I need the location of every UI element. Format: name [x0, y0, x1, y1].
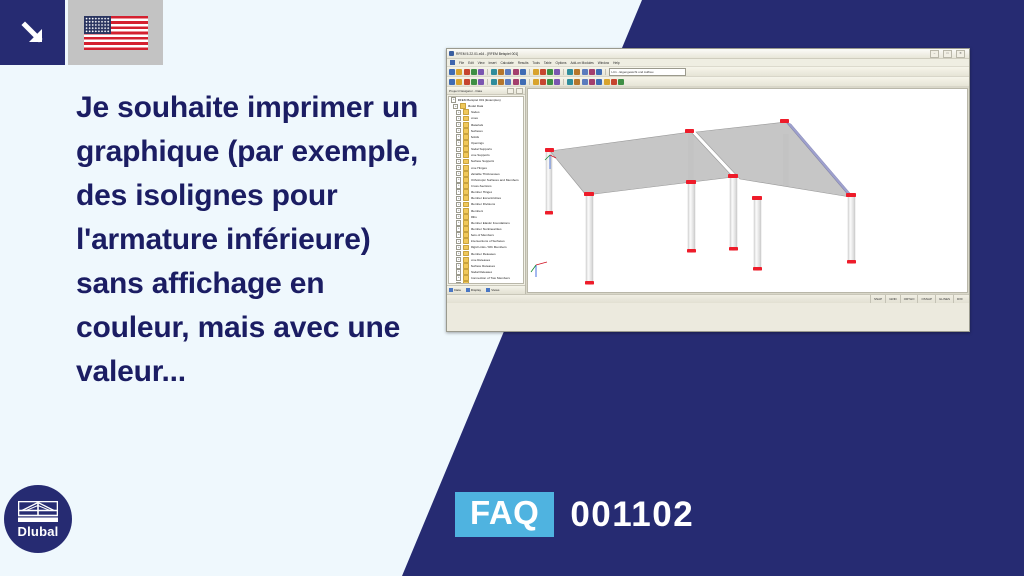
measure-icon[interactable] — [611, 79, 617, 85]
tree-node-label: Member Hinges — [471, 190, 493, 194]
expand-toggle-icon[interactable]: + — [456, 239, 461, 244]
views-tab-icon — [486, 288, 490, 292]
menu-item-options[interactable]: Options — [556, 61, 567, 65]
comment-icon[interactable] — [520, 79, 526, 85]
arrow-down-right-icon — [17, 17, 49, 49]
toolbar-separator — [529, 79, 530, 85]
expand-toggle-icon[interactable]: + — [456, 226, 461, 231]
load-icon[interactable] — [505, 79, 511, 85]
tree-node-label: Nodal Releases — [471, 270, 493, 274]
support-icon[interactable] — [498, 79, 504, 85]
expand-toggle-icon[interactable]: + — [456, 159, 461, 164]
render-quality-icon[interactable] — [589, 79, 595, 85]
folder-icon — [463, 220, 470, 226]
visibility-icon[interactable] — [574, 79, 580, 85]
tree-node-label: Member Nonlinearities — [471, 227, 502, 231]
toolbar-separator — [487, 79, 488, 85]
folder-icon — [463, 214, 470, 220]
slab-panel-right — [696, 122, 850, 197]
paste-icon[interactable] — [505, 69, 511, 75]
faq-number: 001102 — [570, 497, 694, 533]
tree-node-label: Rigid Links / Rib Members — [471, 245, 507, 249]
tree-node-label: Surfaces — [471, 129, 483, 133]
menu-item-help[interactable]: Help — [613, 61, 620, 65]
tree-node-label: Intersections of Surfaces — [471, 239, 505, 243]
navigator-tree[interactable]: +RFEM Beispiel 001 (Examples)+Model Data… — [448, 96, 524, 284]
model-view-icon[interactable] — [596, 79, 602, 85]
tree-node-label: Model Data — [468, 104, 484, 108]
toolbar-separator — [529, 69, 530, 75]
menu-item-file[interactable]: File — [459, 61, 464, 65]
status-osnap[interactable]: OSNAP — [917, 295, 935, 303]
snap-icon[interactable] — [533, 79, 539, 85]
expand-toggle-icon[interactable]: + — [451, 97, 456, 102]
status-bar: SNAP GRID ORTHO OSNAP GLINES DXF — [447, 294, 969, 303]
expand-toggle-icon[interactable]: + — [456, 214, 461, 219]
undo-icon[interactable] — [513, 69, 519, 75]
folder-icon — [463, 189, 470, 195]
folder-icon — [463, 263, 470, 269]
cut-icon[interactable] — [491, 69, 497, 75]
menu-bar[interactable]: File Edit View Insert Calculate Results … — [447, 59, 969, 67]
zoom-in-icon[interactable] — [547, 69, 553, 75]
expand-toggle-icon[interactable]: + — [456, 110, 461, 115]
us-flag-icon — [84, 16, 148, 50]
calculate-icon[interactable] — [589, 69, 595, 75]
coordinate-axes-icon — [531, 262, 547, 277]
expand-toggle-icon[interactable]: + — [456, 208, 461, 213]
member-icon[interactable] — [471, 79, 477, 85]
folder-icon — [463, 116, 470, 122]
folder-icon — [463, 281, 470, 284]
redo-icon[interactable] — [520, 69, 526, 75]
zoom-out-icon[interactable] — [554, 69, 560, 75]
model-viewport[interactable] — [527, 88, 968, 293]
clip-icon[interactable] — [618, 79, 624, 85]
tree-node-label: Member Eccentricities — [471, 196, 501, 200]
toolbar-separator — [487, 69, 488, 75]
status-dxf[interactable]: DXF — [953, 295, 966, 303]
new-file-icon[interactable] — [449, 69, 455, 75]
menu-item-window[interactable]: Window — [598, 61, 609, 65]
folder-icon — [463, 251, 470, 257]
tree-node-label: Line Releases — [471, 258, 491, 262]
folder-icon — [463, 159, 470, 165]
tree-node-label: Materials — [471, 123, 484, 127]
menu-item-edit[interactable]: Edit — [468, 61, 474, 65]
status-grid[interactable]: GRID — [885, 295, 900, 303]
expand-toggle-icon[interactable]: + — [456, 128, 461, 133]
pin-button[interactable] — [507, 88, 514, 94]
flag-badge — [68, 0, 163, 65]
tree-node-label: Surface Supports — [471, 159, 495, 163]
layer-icon[interactable] — [567, 79, 573, 85]
navigator-tabs[interactable]: Data Display Views — [447, 285, 525, 294]
tab-display-label: Display — [471, 288, 481, 292]
expand-toggle-icon[interactable]: + — [456, 147, 461, 152]
tree-node-label: Variable Thicknesses — [471, 172, 500, 176]
workspace: Project Navigator - Data +RFEM Beispiel … — [447, 87, 969, 294]
expand-toggle-icon[interactable]: + — [453, 104, 458, 109]
folder-icon — [463, 238, 470, 244]
dimension-icon[interactable] — [513, 79, 519, 85]
tree-node-label: RFEM Beispiel 001 (Examples) — [458, 98, 501, 102]
faq-chip: FAQ — [455, 492, 554, 537]
folder-icon — [463, 109, 470, 115]
tree-node[interactable]: +Nodal Constraints — [449, 281, 523, 284]
arrow-badge — [0, 0, 65, 65]
folder-icon — [463, 257, 470, 263]
save-icon[interactable] — [464, 69, 470, 75]
ortho-icon[interactable] — [547, 79, 553, 85]
minimize-button[interactable]: – — [930, 50, 939, 58]
tree-node-label: Cross-Sections — [471, 184, 492, 188]
tree-node-label: Openings — [471, 141, 484, 145]
navigator-title: Project Navigator - Data — [449, 89, 482, 93]
rfem-application-window: RFEM 5.22.01.x64 - [RFEM Beispiel 001] –… — [446, 48, 970, 332]
toolbar-separator — [563, 69, 564, 75]
menu-item-addon-modules[interactable]: Add-on Modules — [571, 61, 594, 65]
solid-icon[interactable] — [582, 69, 588, 75]
node-icon[interactable] — [456, 79, 462, 85]
slide-canvas: Je souhaite imprimer un graphique (par e… — [0, 0, 1024, 576]
folder-icon — [463, 152, 470, 158]
line-icon[interactable] — [464, 79, 470, 85]
tree-node-label: Nodal Constraints — [471, 282, 496, 284]
faq-row: FAQ 001102 — [455, 492, 694, 537]
object-snap-icon[interactable] — [554, 79, 560, 85]
toolbar-secondary[interactable] — [447, 77, 969, 87]
maximize-button[interactable]: □ — [943, 50, 952, 58]
folder-icon — [463, 171, 470, 177]
tab-data-label: Data — [454, 288, 461, 292]
print-preview-icon[interactable] — [478, 69, 484, 75]
folder-icon — [463, 128, 470, 134]
results-icon[interactable] — [596, 69, 602, 75]
window-controls: – □ ✕ — [930, 50, 967, 58]
folder-icon — [463, 245, 470, 251]
menu-item-table[interactable]: Table — [544, 61, 552, 65]
navigator-header: Project Navigator - Data — [447, 87, 525, 95]
expand-toggle-icon[interactable]: + — [456, 196, 461, 201]
expand-toggle-icon[interactable]: + — [456, 251, 461, 256]
expand-toggle-icon[interactable]: + — [456, 183, 461, 188]
tree-node-label: Solids — [471, 135, 479, 139]
expand-toggle-icon[interactable]: + — [456, 282, 461, 284]
folder-icon — [460, 103, 467, 109]
tree-node-label: Ribs — [471, 215, 477, 219]
tree-node-label: Sets of Members — [471, 233, 494, 237]
open-file-icon[interactable] — [456, 69, 462, 75]
toolbar-primary[interactable]: LC1 - Eigengewicht und Aufbau — [447, 67, 969, 77]
folder-icon — [463, 134, 470, 140]
render-icon[interactable] — [567, 69, 573, 75]
dlubal-logo-text: Dlubal — [18, 525, 59, 538]
status-snap[interactable]: SNAP — [870, 295, 885, 303]
menu-item-calculate[interactable]: Calculate — [500, 61, 513, 65]
menu-item-insert[interactable]: Insert — [489, 61, 497, 65]
tree-node-label: Members — [471, 209, 484, 213]
tab-data[interactable]: Data — [449, 288, 461, 292]
toolbar-separator — [563, 79, 564, 85]
tab-views-label: Views — [491, 288, 499, 292]
menu-item-tools[interactable]: Tools — [532, 61, 539, 65]
section-icon[interactable] — [582, 79, 588, 85]
wireframe-icon[interactable] — [574, 69, 580, 75]
toolbar-separator — [605, 69, 606, 75]
expand-toggle-icon[interactable]: + — [456, 122, 461, 127]
menu-item-view[interactable]: View — [478, 61, 485, 65]
tree-node-label: Member Divisions — [471, 202, 496, 206]
window-titlebar: RFEM 5.22.01.x64 - [RFEM Beispiel 001] –… — [447, 49, 969, 59]
expand-toggle-icon[interactable]: + — [456, 245, 461, 250]
expand-toggle-icon[interactable]: + — [456, 232, 461, 237]
expand-toggle-icon[interactable]: + — [456, 134, 461, 139]
data-tab-icon — [449, 288, 453, 292]
expand-toggle-icon[interactable]: + — [456, 220, 461, 225]
expand-toggle-icon[interactable]: + — [456, 177, 461, 182]
tab-views[interactable]: Views — [486, 288, 499, 292]
menu-item-results[interactable]: Results — [518, 61, 529, 65]
tree-node-label: Member Elastic Foundations — [471, 221, 510, 225]
display-tab-icon — [466, 288, 470, 292]
folder-icon — [463, 269, 470, 275]
expand-toggle-icon[interactable]: + — [456, 153, 461, 158]
folder-icon — [463, 146, 470, 152]
folder-icon — [463, 195, 470, 201]
folder-icon — [463, 226, 470, 232]
print-icon[interactable] — [471, 69, 477, 75]
tree-node-label: Member Releases — [471, 252, 496, 256]
grid-icon[interactable] — [540, 79, 546, 85]
folder-icon — [463, 208, 470, 214]
structure-3d-model — [528, 89, 968, 293]
expand-toggle-icon[interactable]: + — [456, 269, 461, 274]
tree-node-label: Line Hinges — [471, 166, 487, 170]
zoom-window-icon[interactable] — [540, 69, 546, 75]
close-button[interactable] — [516, 88, 523, 94]
zoom-all-icon[interactable] — [533, 69, 539, 75]
tree-node-label: Line Supports — [471, 153, 490, 157]
window-title: RFEM 5.22.01.x64 - [RFEM Beispiel 001] — [456, 52, 518, 56]
tree-node-label: Surface Releases — [471, 264, 495, 268]
solid-icon[interactable] — [491, 79, 497, 85]
copy-icon[interactable] — [498, 69, 504, 75]
close-button[interactable]: ✕ — [956, 50, 965, 58]
expand-toggle-icon[interactable]: + — [456, 263, 461, 268]
rfem-app-icon — [449, 51, 454, 56]
folder-icon — [463, 202, 470, 208]
document-icon — [450, 60, 455, 65]
expand-toggle-icon[interactable]: + — [456, 275, 461, 280]
folder-icon — [463, 183, 470, 189]
folder-icon — [463, 140, 470, 146]
tree-node-label: Nodal Supports — [471, 147, 492, 151]
folder-icon — [463, 177, 470, 183]
tree-node-label: Lines — [471, 116, 478, 120]
tree-node-label: Connection of Two Members — [471, 276, 510, 280]
expand-toggle-icon[interactable]: + — [456, 257, 461, 262]
load-case-select[interactable]: LC1 - Eigengewicht und Aufbau — [609, 68, 687, 76]
dlubal-logo: Dlubal — [4, 485, 72, 553]
tab-display[interactable]: Display — [466, 288, 481, 292]
folder-icon — [463, 275, 470, 281]
select-icon[interactable] — [449, 79, 455, 85]
expand-toggle-icon[interactable]: + — [456, 202, 461, 207]
axis-icon[interactable] — [604, 79, 610, 85]
columns-front — [586, 177, 855, 284]
tree-node-label: Orthotropic Surfaces and Members — [471, 178, 519, 182]
folder-icon — [463, 122, 470, 128]
page-title: Je souhaite imprimer un graphique (par e… — [76, 86, 436, 394]
surface-icon[interactable] — [478, 79, 484, 85]
folder-icon — [463, 165, 470, 171]
dlubal-truss-icon — [18, 501, 58, 523]
expand-toggle-icon[interactable]: + — [456, 189, 461, 194]
folder-icon — [463, 232, 470, 238]
expand-toggle-icon[interactable]: + — [456, 171, 461, 176]
expand-toggle-icon[interactable]: + — [456, 116, 461, 121]
expand-toggle-icon[interactable]: + — [456, 140, 461, 145]
expand-toggle-icon[interactable]: + — [456, 165, 461, 170]
project-navigator-panel: Project Navigator - Data +RFEM Beispiel … — [447, 87, 526, 294]
tree-node-label: Nodes — [471, 110, 480, 114]
status-glines[interactable]: GLINES — [935, 295, 953, 303]
status-ortho[interactable]: ORTHO — [900, 295, 918, 303]
